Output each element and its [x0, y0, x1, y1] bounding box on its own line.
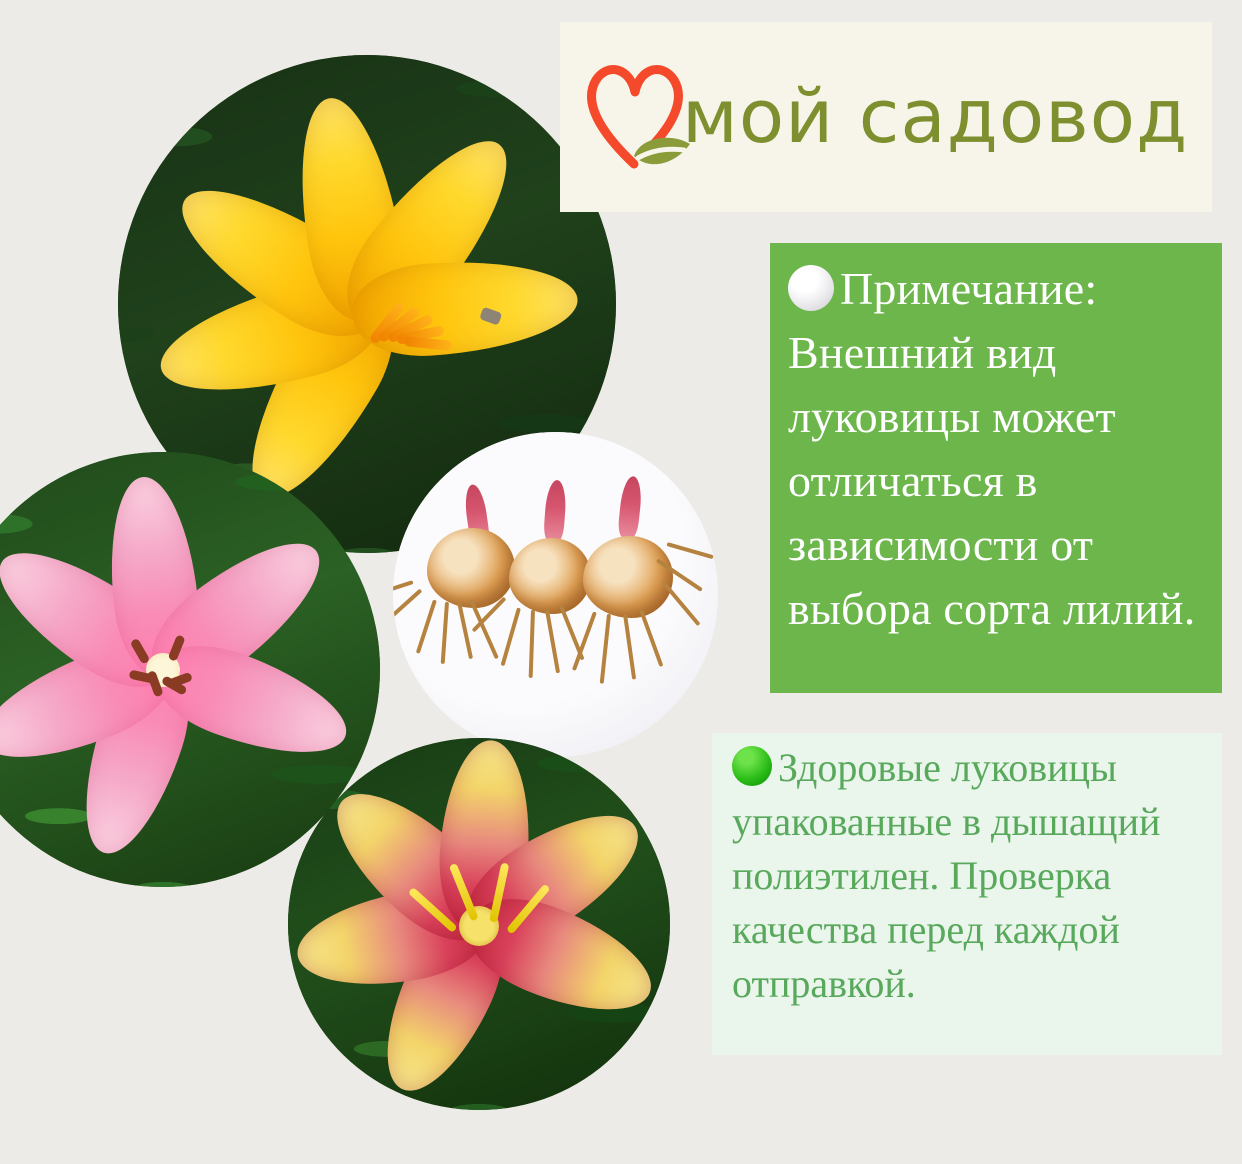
- note-secondary-text: Здоровые луковицы упакованные в дышащий …: [732, 745, 1160, 1006]
- brand-name: мой садовод: [682, 80, 1188, 154]
- lily-bulbs-photo: [393, 432, 718, 757]
- white-circle-icon: [788, 265, 834, 311]
- note-secondary: Здоровые луковицы упакованные в дышащий …: [712, 733, 1222, 1055]
- brand-logo[interactable]: мой садовод: [560, 22, 1212, 212]
- note-primary-text: Примечание: Внешний вид луковицы может о…: [788, 263, 1195, 634]
- note-primary: Примечание: Внешний вид луковицы может о…: [770, 243, 1222, 693]
- logo-mark: [582, 52, 690, 182]
- poster-canvas: мой садовод Примечание: Внешний вид луко…: [0, 0, 1242, 1164]
- leaf-icon: [604, 70, 712, 200]
- green-circle-icon: [732, 746, 772, 786]
- red-yellow-lily-photo: [288, 738, 670, 1110]
